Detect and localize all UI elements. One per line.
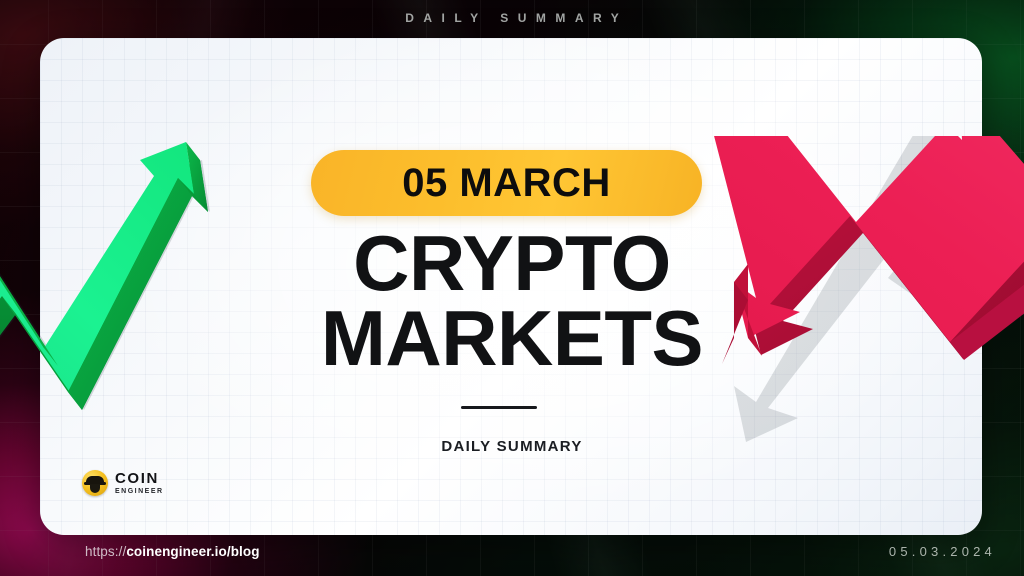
footer-url-protocol: https:// <box>85 544 126 559</box>
brand-logo-text: COIN ENGINEER <box>115 471 164 495</box>
top-strip-label: DAILY SUMMARY <box>0 11 1024 25</box>
subtitle-label: DAILY SUMMARY <box>0 438 1024 455</box>
date-badge[interactable]: 05 MARCH <box>311 150 702 216</box>
footer-date: 05.03.2024 <box>889 544 996 559</box>
brand-name-primary: COIN <box>115 471 164 486</box>
banner-canvas: DAILY SUMMARY <box>0 0 1024 576</box>
footer-url[interactable]: https://coinengineer.io/blog <box>85 544 260 559</box>
brand-name-secondary: ENGINEER <box>115 488 164 495</box>
page-title: CRYPTO MARKETS <box>0 226 1024 376</box>
headline-line-2: MARKETS <box>0 301 1024 376</box>
footer-url-host: coinengineer.io/blog <box>126 544 259 559</box>
coin-engineer-badge-icon <box>82 470 108 496</box>
brand-logo[interactable]: COIN ENGINEER <box>82 470 164 496</box>
date-badge-label: 05 MARCH <box>402 163 610 203</box>
title-divider <box>461 406 537 409</box>
